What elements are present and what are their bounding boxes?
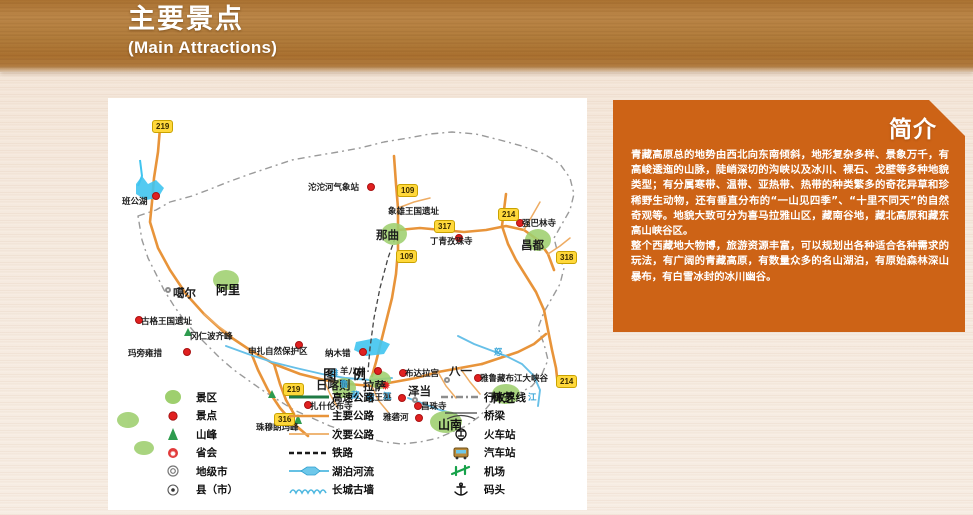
info-panel-body: 青藏高原总的地势由西北向东南倾斜，地形复杂多样、景象万千，有高峻逶迤的山脉，陡峭… — [631, 148, 949, 285]
admin-boundary — [438, 389, 484, 405]
map-place-label[interactable]: 噶尔 — [173, 288, 196, 300]
legend-item[interactable]: 行政界线 — [438, 388, 526, 407]
map-place-label[interactable]: 沱沱河气象站 — [308, 184, 359, 193]
legend-item[interactable]: 主要公路 — [286, 407, 374, 426]
legend-item-label: 湖泊河流 — [332, 464, 374, 479]
train-station-icon — [438, 426, 484, 442]
harbor-icon — [438, 482, 484, 498]
bridge-icon — [438, 408, 484, 424]
map-place-label[interactable]: 丁青孜珠寺 — [430, 238, 473, 247]
info-panel: 简介 青藏高原总的地势由西北向东南倾斜，地形复杂多样、景象万千，有高峻逶迤的山脉… — [613, 100, 965, 332]
legend-item-label: 省会 — [196, 445, 217, 460]
svg-text:✹: ✹ — [170, 449, 177, 458]
page-title-cn: 主要景点 — [128, 6, 277, 33]
airport-icon — [438, 463, 484, 479]
legend-item[interactable]: 机场 — [438, 462, 526, 481]
map-place-label[interactable]: 申扎自然保护区 — [248, 348, 308, 357]
legend-item-label: 铁路 — [332, 445, 353, 460]
minor-road-line — [287, 426, 331, 442]
legend-column-facilities: 行政界线桥梁火车站汽车站机场码头 — [438, 388, 526, 499]
map-place-label[interactable]: 班公湖 — [122, 198, 148, 207]
attraction-dot — [151, 408, 195, 424]
header-text-group: 主要景点 (Main Attractions) — [128, 6, 277, 56]
map-place-label[interactable]: 强巴林寺 — [522, 220, 556, 229]
map-marker-attraction[interactable] — [152, 192, 160, 200]
train-station-icon — [439, 426, 483, 442]
provincial-capital: ✹ — [150, 445, 196, 461]
prefecture-city — [151, 463, 195, 479]
harbor-icon — [439, 482, 483, 498]
attraction-dot — [150, 408, 196, 424]
legend-item[interactable]: 县（市） — [150, 481, 238, 500]
legend-item-label: 景区 — [196, 390, 217, 405]
legend-item-label: 码头 — [484, 482, 505, 497]
map-marker-attraction[interactable] — [359, 348, 367, 356]
legend-item[interactable]: 景区 — [150, 388, 238, 407]
legend-item[interactable]: 汽车站 — [438, 444, 526, 463]
legend-item-label: 行政界线 — [484, 390, 526, 405]
legend-item[interactable]: 次要公路 — [286, 425, 374, 444]
lake-river — [287, 463, 331, 479]
legend-item[interactable]: 桥梁 — [438, 407, 526, 426]
airport-icon — [439, 463, 483, 479]
road-shield[interactable]: 317 — [434, 220, 455, 233]
scenic-area-blob — [150, 389, 196, 405]
legend-item[interactable]: 铁路 — [286, 444, 374, 463]
map-place-label[interactable]: 纳木错 — [325, 350, 351, 359]
page-root: 主要景点 (Main Attractions) — [0, 0, 973, 515]
map-place-label[interactable]: 昌都 — [521, 240, 544, 252]
road-shield[interactable]: 109 — [397, 184, 418, 197]
legend-title: 图 例 — [108, 364, 587, 383]
mountain-peak — [151, 426, 195, 442]
map-legend: 图 例 景区景点山峰✹省会地级市县（市） 高速公路主要公路次要公路铁路湖泊河流长… — [108, 362, 587, 510]
legend-item-label: 县（市） — [196, 482, 238, 497]
legend-item-label: 山峰 — [196, 427, 217, 442]
legend-item[interactable]: 地级市 — [150, 462, 238, 481]
map-marker-city[interactable] — [165, 287, 171, 293]
legend-item-label: 火车站 — [484, 427, 516, 442]
info-paragraph: 整个西藏地大物博，旅游资源丰富，可以规划出各种适合各种需求的玩法，有广阔的青藏高… — [631, 239, 949, 285]
admin-boundary — [439, 389, 483, 405]
legend-item-label: 汽车站 — [484, 445, 516, 460]
major-road-line — [286, 408, 332, 424]
info-panel-title: 简介 — [889, 110, 937, 144]
legend-item-label: 桥梁 — [484, 408, 505, 423]
road-shield[interactable]: 214 — [498, 208, 519, 221]
map-place-label[interactable]: 象雄王国遗址 — [388, 208, 439, 217]
map-river-label: 怒 — [494, 349, 503, 358]
map-marker-attraction[interactable] — [183, 348, 191, 356]
provincial-capital: ✹ — [151, 445, 195, 461]
legend-column-symbols: 景区景点山峰✹省会地级市县（市） — [150, 388, 238, 499]
map-place-label[interactable]: 冈仁波齐峰 — [190, 333, 233, 342]
legend-item[interactable]: 高速公路 — [286, 388, 374, 407]
legend-item[interactable]: 火车站 — [438, 425, 526, 444]
info-paragraph: 青藏高原总的地势由西北向东南倾斜，地形复杂多样、景象万千，有高峻逶迤的山脉，陡峭… — [631, 148, 949, 239]
legend-item-label: 长城古墙 — [332, 482, 374, 497]
legend-item[interactable]: 湖泊河流 — [286, 462, 374, 481]
legend-item[interactable]: 山峰 — [150, 425, 238, 444]
mountain-peak — [150, 426, 196, 442]
header-banner: 主要景点 (Main Attractions) — [0, 0, 973, 72]
prefecture-city — [150, 463, 196, 479]
legend-item[interactable]: 长城古墙 — [286, 481, 374, 500]
legend-item[interactable]: 景点 — [150, 407, 238, 426]
page-title-en: (Main Attractions) — [128, 39, 277, 56]
legend-item[interactable]: ✹省会 — [150, 444, 238, 463]
map-marker-attraction[interactable] — [367, 183, 375, 191]
scenic-area-blob — [151, 389, 195, 405]
great-wall — [287, 482, 331, 498]
bus-station-icon — [438, 445, 484, 461]
road-shield[interactable]: 109 — [396, 250, 417, 263]
major-road-line — [287, 408, 331, 424]
expressway-line — [286, 389, 332, 405]
railway-dashed — [286, 445, 332, 461]
legend-item-label: 次要公路 — [332, 427, 374, 442]
legend-item-label: 机场 — [484, 464, 505, 479]
expressway-line — [287, 389, 331, 405]
legend-item-label: 地级市 — [196, 464, 228, 479]
map-place-label[interactable]: 古格王国遗址 — [141, 318, 192, 327]
legend-item-label: 高速公路 — [332, 390, 374, 405]
county-city — [151, 482, 195, 498]
bus-station-icon — [439, 445, 483, 461]
county-city — [150, 482, 196, 498]
railway-dashed — [287, 445, 331, 461]
legend-item-label: 主要公路 — [332, 408, 374, 423]
map-place-label[interactable]: 那曲 — [376, 230, 399, 242]
legend-item-label: 景点 — [196, 408, 217, 423]
great-wall — [286, 482, 332, 498]
road-shield[interactable]: 219 — [152, 120, 173, 133]
legend-item[interactable]: 码头 — [438, 481, 526, 500]
lake-river — [286, 463, 332, 479]
map-place-label[interactable]: 阿里 — [216, 284, 240, 296]
map-place-label[interactable]: 玛旁雍措 — [128, 350, 162, 359]
minor-road-line — [286, 426, 332, 442]
bridge-icon — [439, 408, 483, 424]
road-shield[interactable]: 318 — [556, 251, 577, 264]
legend-column-lines: 高速公路主要公路次要公路铁路湖泊河流长城古墙 — [286, 388, 374, 499]
